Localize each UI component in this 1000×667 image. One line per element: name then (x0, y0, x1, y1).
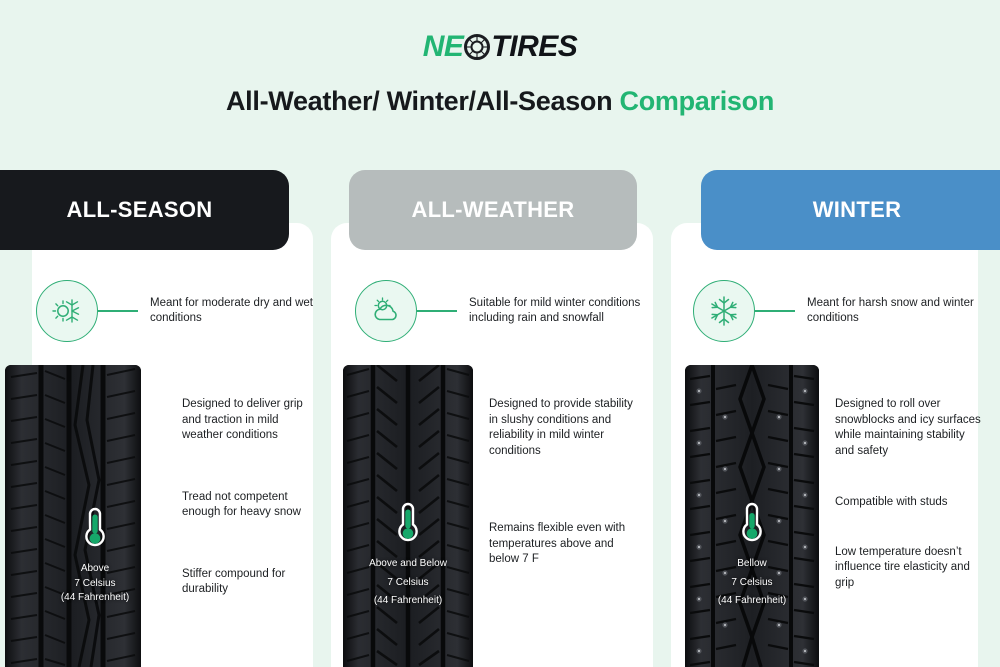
connector-line-all-season (98, 310, 138, 312)
thermometer-line3: (44 Fahrenheit) (692, 594, 812, 609)
thermometer-icon (737, 500, 767, 548)
header-winter-label: WINTER (813, 197, 902, 223)
feature-text-all-season: Meant for moderate dry and wet condition… (138, 296, 316, 327)
thermometer-all-season: Above 7 Celsius (44 Fahrenheit) (35, 505, 155, 606)
bullets-winter: Designed to roll over snowblocks and icy… (835, 397, 985, 591)
sun-snowflake-icon (36, 280, 98, 342)
bullets-all-weather: Designed to provide stability in slushy … (489, 397, 634, 568)
brand-name-neo: NE (423, 30, 464, 64)
page-title-accent: Comparison (620, 86, 775, 116)
header-all-season-label: ALL-SEASON (67, 197, 213, 223)
feature-all-season: Meant for moderate dry and wet condition… (36, 280, 316, 342)
header-all-weather: ALL-WEATHER (349, 170, 637, 250)
feature-text-all-weather: Suitable for mild winter conditions incl… (457, 296, 645, 327)
snowflake-icon (693, 280, 755, 342)
bullet-item: Designed to deliver grip and traction in… (182, 397, 322, 444)
page-title: All-Weather/ Winter/All-Season Compariso… (0, 86, 1000, 117)
bullet-item: Stiffer compound for durability (182, 567, 322, 598)
logo-bar: NE TIRES (0, 0, 1000, 64)
brand-name-tires: TIRES (491, 30, 577, 64)
header-all-season: ALL-SEASON (0, 170, 289, 250)
bullet-item: Tread not competent enough for heavy sno… (182, 490, 322, 521)
bullet-item: Compatible with studs (835, 495, 985, 511)
thermometer-line1: Above and Below (348, 557, 468, 572)
thermometer-icon (393, 500, 423, 548)
brand-logo: NE TIRES (423, 30, 578, 64)
comparison-columns: ALL-SEASON (0, 170, 1000, 667)
bullets-all-season: Designed to deliver grip and traction in… (182, 397, 322, 598)
thermometer-line2: 7 Celsius (692, 576, 812, 591)
thermometer-line2: 7 Celsius (35, 577, 155, 592)
column-winter: WINTER (671, 170, 1000, 667)
column-all-weather: ALL-WEATHER (331, 170, 653, 667)
thermometer-all-weather: Above and Below 7 Celsius (44 Fahrenheit… (348, 500, 468, 609)
page-title-main: All-Weather/ Winter/All-Season (226, 86, 612, 116)
bullet-item: Remains flexible even with temperatures … (489, 521, 634, 568)
bullet-item: Low temperature doesn’t influence tire e… (835, 545, 985, 592)
header-winter: WINTER (701, 170, 1000, 250)
thermometer-line2: 7 Celsius (348, 576, 468, 591)
feature-winter: Meant for harsh snow and winter conditio… (693, 280, 988, 342)
connector-line-all-weather (417, 310, 457, 312)
column-all-season: ALL-SEASON (0, 170, 313, 667)
header-all-weather-label: ALL-WEATHER (412, 197, 575, 223)
tire-tread-circle-icon (464, 34, 490, 60)
connector-line-winter (755, 310, 795, 312)
thermometer-line3: (44 Fahrenheit) (35, 591, 155, 606)
thermometer-line1: Bellow (692, 557, 812, 572)
thermometer-winter: Bellow 7 Celsius (44 Fahrenheit) (692, 500, 812, 609)
bullet-item: Designed to roll over snowblocks and icy… (835, 397, 985, 459)
thermometer-line1: Above (35, 562, 155, 577)
feature-all-weather: Suitable for mild winter conditions incl… (355, 280, 645, 342)
feature-text-winter: Meant for harsh snow and winter conditio… (795, 296, 988, 327)
thermometer-line3: (44 Fahrenheit) (348, 594, 468, 609)
bullet-item: Designed to provide stability in slushy … (489, 397, 634, 459)
sun-cloud-icon (355, 280, 417, 342)
thermometer-icon (80, 505, 110, 553)
